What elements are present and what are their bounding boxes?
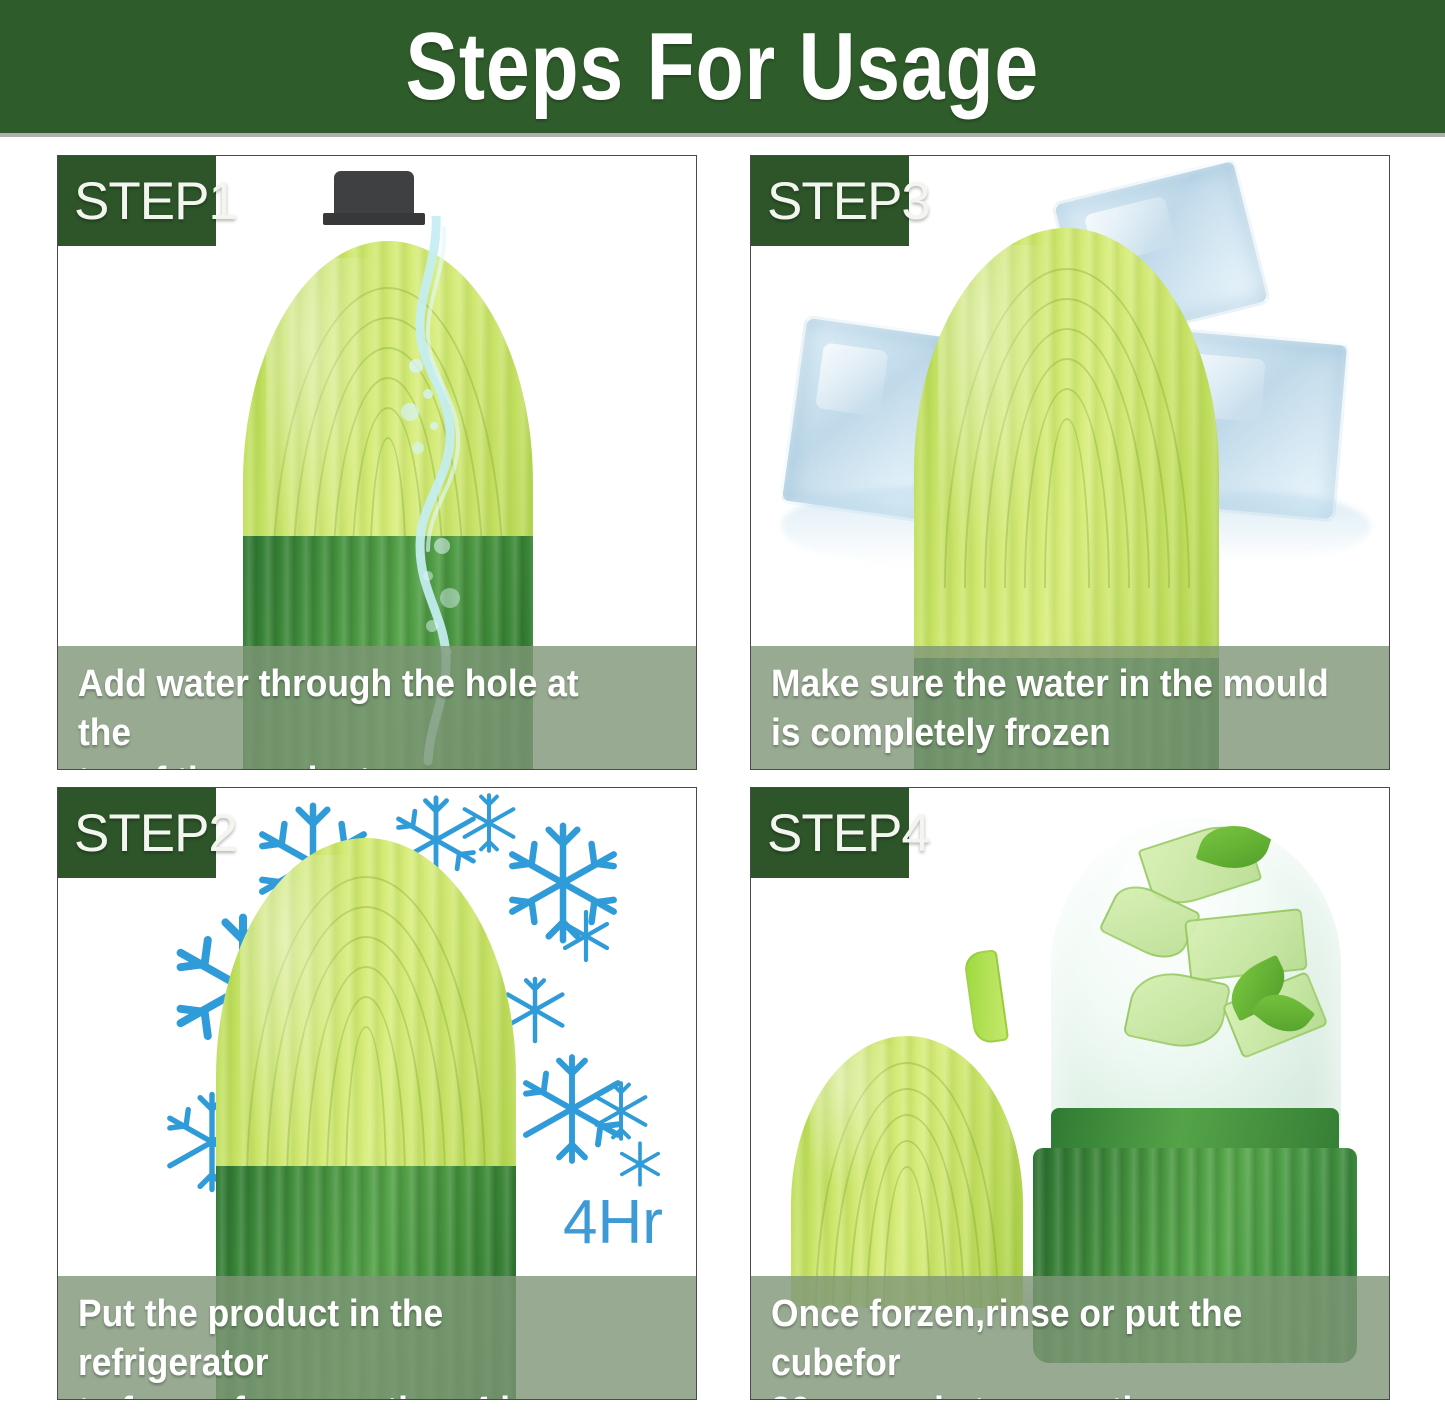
step-badge-3: STEP3 bbox=[751, 156, 909, 246]
step-badge-4: STEP4 bbox=[751, 788, 909, 878]
caption-line-2: 30 seconds to open the cover bbox=[771, 1387, 1331, 1400]
caption-line-1: Put the product in the refrigerator bbox=[78, 1290, 638, 1387]
snowflake-icon-6 bbox=[556, 906, 616, 966]
step-caption-3: Make sure the water in the mould is comp… bbox=[751, 646, 1389, 769]
header-divider bbox=[0, 133, 1445, 137]
removed-cover bbox=[791, 1036, 1023, 1308]
step-badge-label: STEP2 bbox=[74, 807, 237, 860]
page-title: Steps For Usage bbox=[406, 19, 1039, 115]
caption-line-2: is completely frozen bbox=[771, 709, 1331, 758]
bottle-cap-flange-icon bbox=[323, 213, 425, 225]
steps-grid: STEP1 Add water through the hole at the … bbox=[57, 155, 1390, 1400]
cover-pull-tab[interactable] bbox=[963, 949, 1009, 1045]
step-caption-2: Put the product in the refrigerator to f… bbox=[58, 1276, 696, 1399]
step-card-4[interactable]: STEP4 Once forzen,rinse or put the cubef… bbox=[750, 787, 1390, 1400]
caption-line-2: topof the product bbox=[78, 757, 638, 770]
snowflake-icon-9 bbox=[588, 1078, 654, 1144]
step-card-3[interactable]: STEP3 Make sure the water in the mould i… bbox=[750, 155, 1390, 770]
step-badge-2: STEP2 bbox=[58, 788, 216, 878]
caption-line-1: Add water through the hole at the bbox=[78, 660, 638, 757]
step-badge-label: STEP4 bbox=[767, 807, 930, 860]
header-banner: Steps For Usage bbox=[0, 0, 1445, 133]
step-caption-4: Once forzen,rinse or put the cubefor 30 … bbox=[751, 1276, 1389, 1399]
step-badge-label: STEP3 bbox=[767, 175, 930, 228]
bottle-cap-icon bbox=[334, 171, 414, 215]
cover-arcs bbox=[791, 1036, 1023, 1308]
freeze-duration-text: 4Hr bbox=[563, 1192, 663, 1254]
caption-line-2: to freeze for more than 4 hours bbox=[78, 1387, 638, 1400]
snowflake-icon-11 bbox=[614, 1138, 666, 1190]
caption-line-1: Once forzen,rinse or put the cubefor bbox=[771, 1290, 1331, 1387]
step-badge-label: STEP1 bbox=[74, 175, 237, 228]
step-badge-1: STEP1 bbox=[58, 156, 216, 246]
step-caption-1: Add water through the hole at the topof … bbox=[58, 646, 696, 769]
step-card-1[interactable]: STEP1 Add water through the hole at the … bbox=[57, 155, 697, 770]
caption-line-1: Make sure the water in the mould bbox=[771, 660, 1331, 709]
step-card-2[interactable]: 4Hr 4Hr STEP2 Put the product in the ref… bbox=[57, 787, 697, 1400]
frozen-ice-cube bbox=[1051, 818, 1341, 1140]
